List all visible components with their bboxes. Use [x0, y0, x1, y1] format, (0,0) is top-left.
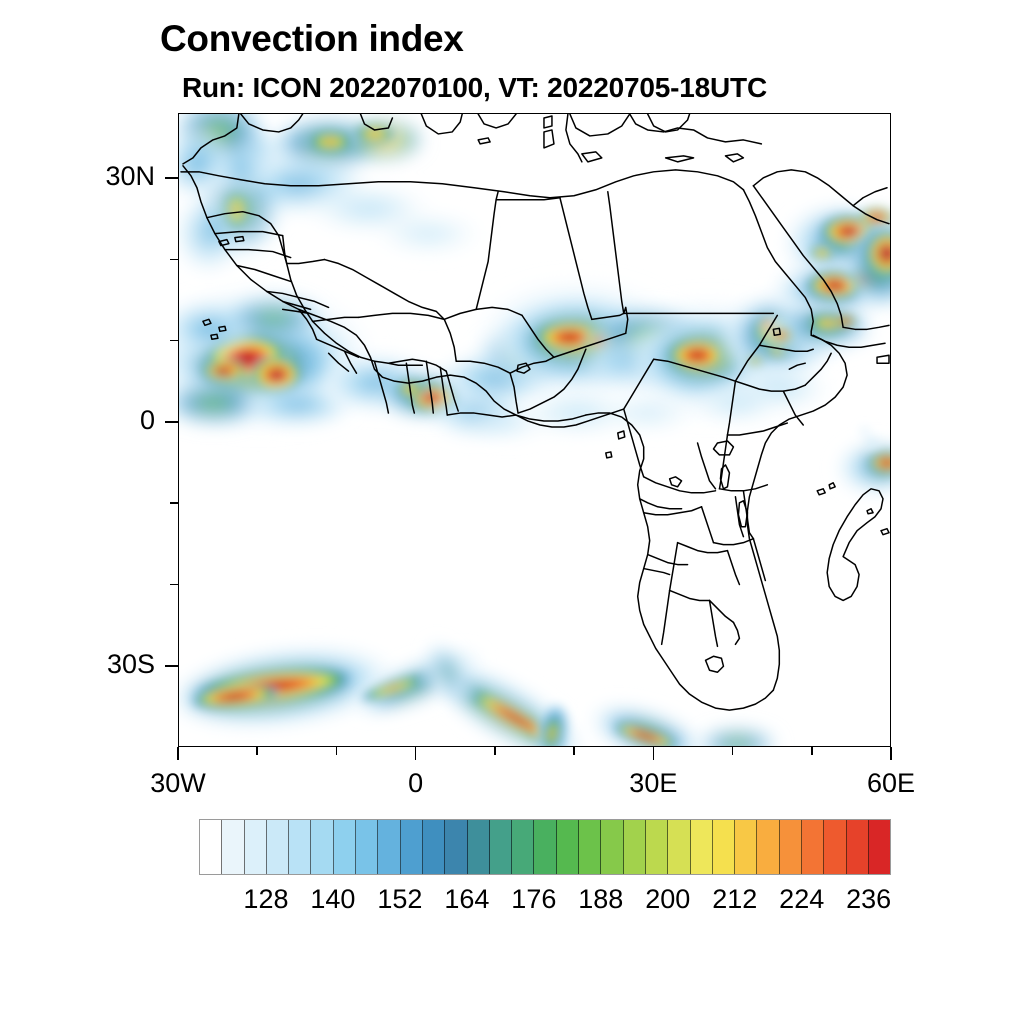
y-tick — [170, 502, 178, 504]
colorbar-segment — [713, 820, 735, 874]
colorbar-segment — [847, 820, 869, 874]
y-tick — [170, 340, 178, 342]
x-tick-label: 0 — [408, 768, 423, 799]
colorbar-segment — [200, 820, 222, 874]
x-tick — [573, 747, 575, 755]
colorbar-segment — [735, 820, 757, 874]
x-tick-label: 60E — [867, 768, 915, 799]
colorbar-tick-label: 236 — [846, 884, 891, 915]
y-tick — [170, 584, 178, 586]
colorbar-segment — [245, 820, 267, 874]
x-tick — [256, 747, 258, 755]
colorbar-segment — [490, 820, 512, 874]
x-tick — [494, 747, 496, 755]
x-tick-label: 30W — [150, 768, 206, 799]
colorbar-tick-label: 164 — [444, 884, 489, 915]
colorbar-segment — [579, 820, 601, 874]
colorbar-segment — [824, 820, 846, 874]
colorbar-segment — [802, 820, 824, 874]
y-tick-label: 30N — [83, 161, 155, 192]
colorbar-segment — [512, 820, 534, 874]
colorbar[interactable] — [199, 819, 891, 875]
colorbar-segment — [334, 820, 356, 874]
map-plot-area[interactable] — [178, 113, 891, 747]
run-validtime-subtitle: Run: ICON 2022070100, VT: 20220705-18UTC — [182, 72, 767, 104]
colorbar-segment — [691, 820, 713, 874]
colorbar-segment — [468, 820, 490, 874]
colorbar-segment — [869, 820, 890, 874]
colorbar-segment — [423, 820, 445, 874]
x-tick — [811, 747, 813, 755]
colorbar-segment — [311, 820, 333, 874]
colorbar-tick-label: 176 — [511, 884, 556, 915]
colorbar-tick-label: 212 — [712, 884, 757, 915]
colorbar-tick-label: 128 — [243, 884, 288, 915]
colorbar-segment — [267, 820, 289, 874]
y-tick — [165, 665, 178, 667]
colorbar-segment — [780, 820, 802, 874]
colorbar-segment — [534, 820, 556, 874]
colorbar-segment — [289, 820, 311, 874]
x-tick — [732, 747, 734, 755]
page-title: Convection index — [160, 18, 464, 60]
x-tick-label: 30E — [629, 768, 677, 799]
colorbar-segment — [601, 820, 623, 874]
y-tick — [170, 259, 178, 261]
colorbar-tick-label: 224 — [779, 884, 824, 915]
y-tick — [165, 421, 178, 423]
x-tick — [336, 747, 338, 755]
colorbar-segment — [624, 820, 646, 874]
colorbar-tick-label: 152 — [377, 884, 422, 915]
colorbar-tick-label: 140 — [310, 884, 355, 915]
colorbar-segment — [557, 820, 579, 874]
colorbar-segment — [222, 820, 244, 874]
x-tick — [653, 747, 655, 760]
colorbar-segment — [378, 820, 400, 874]
colorbar-segment — [445, 820, 467, 874]
x-tick — [415, 747, 417, 760]
y-tick-label: 30S — [83, 649, 155, 680]
y-tick-label: 0 — [83, 405, 155, 436]
convection-map — [179, 114, 890, 746]
y-tick — [165, 177, 178, 179]
colorbar-tick-label: 200 — [645, 884, 690, 915]
x-tick — [890, 747, 892, 760]
colorbar-tick-label: 188 — [578, 884, 623, 915]
colorbar-segment — [646, 820, 668, 874]
colorbar-segment — [668, 820, 690, 874]
colorbar-segment — [757, 820, 779, 874]
x-tick — [177, 747, 179, 760]
colorbar-segment — [401, 820, 423, 874]
colorbar-segment — [356, 820, 378, 874]
